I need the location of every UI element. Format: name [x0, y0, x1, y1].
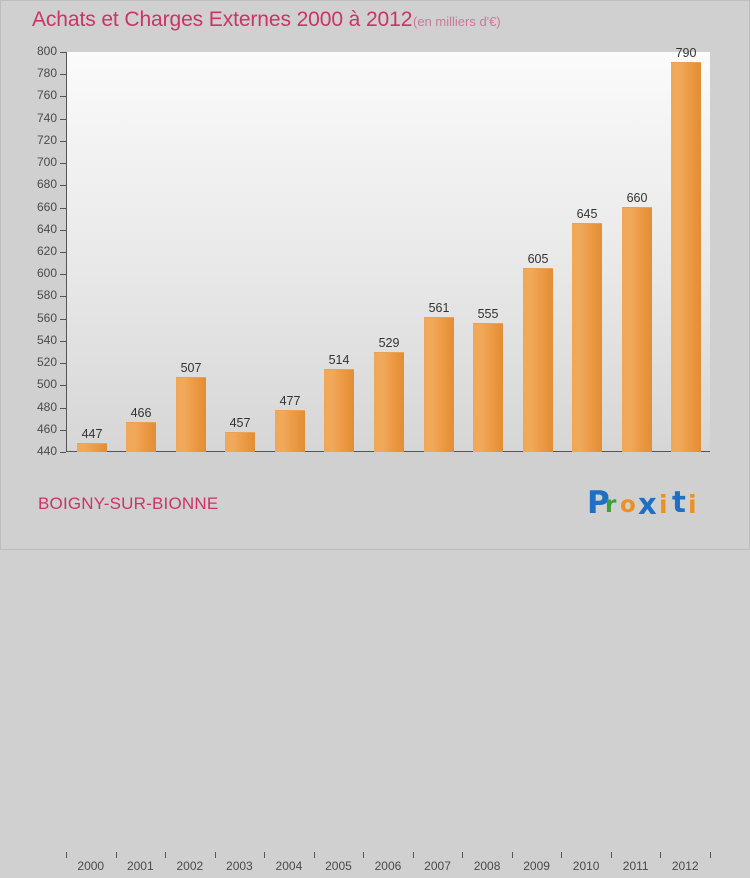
x-axis-tick-mark — [710, 852, 711, 858]
bar[interactable] — [324, 369, 354, 452]
x-axis-tick-label: 2007 — [413, 859, 463, 873]
y-axis-tick-mark — [60, 208, 66, 209]
bar-value-label: 457 — [213, 416, 267, 430]
y-axis-tick-mark — [60, 230, 66, 231]
bar-value-label: 605 — [511, 252, 565, 266]
x-axis-tick-mark — [611, 852, 612, 858]
bar[interactable] — [473, 323, 503, 452]
x-axis-tick-mark — [116, 852, 117, 858]
x-axis-tick-label: 2011 — [611, 859, 661, 873]
bar-value-label: 447 — [65, 427, 119, 441]
bar[interactable] — [424, 317, 454, 452]
bar-value-label: 514 — [312, 353, 366, 367]
x-axis-tick-mark — [165, 852, 166, 858]
chart-units-label: (en milliers d'€) — [413, 14, 501, 29]
x-axis-tick-mark — [215, 852, 216, 858]
y-axis: 8007807607407207006806606406206005805605… — [1, 52, 66, 452]
chart-header: Achats et Charges Externes 2000 à 2012 (… — [1, 1, 750, 41]
x-axis-tick-label: 2008 — [462, 859, 512, 873]
y-axis-tick-mark — [60, 363, 66, 364]
plot-area: 447466507457477514529561555605645660790 — [66, 52, 710, 452]
x-axis-tick-mark — [660, 852, 661, 858]
x-axis-tick-mark — [363, 852, 364, 858]
x-axis-tick-label: 2003 — [215, 859, 265, 873]
y-axis-tick-label: 740 — [37, 111, 57, 125]
logo-letter-t-5: t — [672, 488, 686, 517]
y-axis-tick-mark — [60, 119, 66, 120]
y-axis-tick-mark — [60, 430, 66, 431]
bar-value-label: 555 — [461, 307, 515, 321]
y-axis-tick-mark — [60, 141, 66, 142]
bar-value-label: 477 — [263, 394, 317, 408]
bar-value-label: 660 — [610, 191, 664, 205]
page-title: Achats et Charges Externes 2000 à 2012 — [32, 8, 412, 32]
y-axis-tick-label: 800 — [37, 44, 57, 58]
proxiti-logo[interactable]: Proxiti — [587, 486, 705, 524]
y-axis-tick-label: 480 — [37, 400, 57, 414]
x-axis-tick-mark — [561, 852, 562, 858]
y-axis-tick-label: 620 — [37, 244, 57, 258]
y-axis-tick-label: 720 — [37, 133, 57, 147]
y-axis-tick-label: 440 — [37, 444, 57, 458]
x-axis-tick-label: 2009 — [512, 859, 562, 873]
x-axis-tick-label: 2004 — [264, 859, 314, 873]
bar-value-label: 561 — [412, 301, 466, 315]
bar[interactable] — [77, 443, 107, 452]
y-axis-tick-label: 600 — [37, 266, 57, 280]
logo-letter-o-2: o — [620, 494, 636, 517]
y-axis-tick-mark — [60, 296, 66, 297]
x-axis-tick-label: 2010 — [561, 859, 611, 873]
x-axis-tick-label: 2005 — [314, 859, 364, 873]
y-axis-tick-mark — [60, 274, 66, 275]
bar[interactable] — [523, 268, 553, 452]
y-axis-tick-label: 500 — [37, 377, 57, 391]
y-axis-tick-label: 520 — [37, 355, 57, 369]
y-axis-tick-label: 580 — [37, 288, 57, 302]
bar[interactable] — [225, 432, 255, 452]
y-axis-tick-mark — [60, 385, 66, 386]
y-axis-tick-mark — [60, 74, 66, 75]
x-axis-tick-mark — [512, 852, 513, 858]
logo-letter-i-6: i — [688, 492, 697, 517]
x-axis-tick-label: 2006 — [363, 859, 413, 873]
y-axis-tick-label: 640 — [37, 222, 57, 236]
y-axis-tick-label: 460 — [37, 422, 57, 436]
x-axis-tick-label: 2001 — [116, 859, 166, 873]
y-axis-tick-mark — [60, 96, 66, 97]
x-axis-tick-mark — [66, 852, 67, 858]
logo-letter-x-3: x — [638, 490, 657, 519]
y-axis-tick-mark — [60, 52, 66, 53]
y-axis-tick-label: 760 — [37, 88, 57, 102]
x-axis-tick-mark — [264, 852, 265, 858]
bar[interactable] — [622, 207, 652, 452]
bar-value-label: 645 — [560, 207, 614, 221]
y-axis-tick-mark — [60, 341, 66, 342]
y-axis-tick-mark — [60, 408, 66, 409]
y-axis-tick-mark — [60, 319, 66, 320]
logo-letter-i-4: i — [659, 492, 668, 517]
bar[interactable] — [572, 223, 602, 452]
x-axis-tick-label: 2002 — [165, 859, 215, 873]
y-axis-tick-label: 700 — [37, 155, 57, 169]
bar-value-label: 507 — [164, 361, 218, 375]
bar[interactable] — [126, 422, 156, 452]
y-axis-tick-mark — [60, 163, 66, 164]
y-axis-tick-label: 680 — [37, 177, 57, 191]
y-axis-tick-label: 660 — [37, 200, 57, 214]
y-axis-tick-label: 540 — [37, 333, 57, 347]
x-axis-tick-mark — [413, 852, 414, 858]
x-axis-tick-mark — [314, 852, 315, 858]
bars-layer: 447466507457477514529561555605645660790 — [67, 52, 711, 452]
y-axis-tick-mark — [60, 185, 66, 186]
bar[interactable] — [671, 62, 701, 452]
bar-value-label: 790 — [659, 46, 713, 60]
chart-footer: BOIGNY-SUR-BIONNE Proxiti — [1, 481, 750, 549]
y-axis-tick-label: 560 — [37, 311, 57, 325]
chart-page: Achats et Charges Externes 2000 à 2012 (… — [0, 0, 750, 550]
x-axis: 2000200120022003200420052006200720082009… — [66, 452, 710, 478]
y-axis-tick-mark — [60, 252, 66, 253]
x-axis-tick-label: 2000 — [66, 859, 116, 873]
x-axis-tick-label: 2012 — [660, 859, 710, 873]
bar[interactable] — [374, 352, 404, 452]
commune-name: BOIGNY-SUR-BIONNE — [38, 494, 218, 514]
x-axis-tick-mark — [462, 852, 463, 858]
bar[interactable] — [275, 410, 305, 452]
y-axis-tick-label: 780 — [37, 66, 57, 80]
bar[interactable] — [176, 377, 206, 452]
bar-value-label: 466 — [114, 406, 168, 420]
bar-value-label: 529 — [362, 336, 416, 350]
logo-letter-r-1: r — [605, 494, 616, 517]
